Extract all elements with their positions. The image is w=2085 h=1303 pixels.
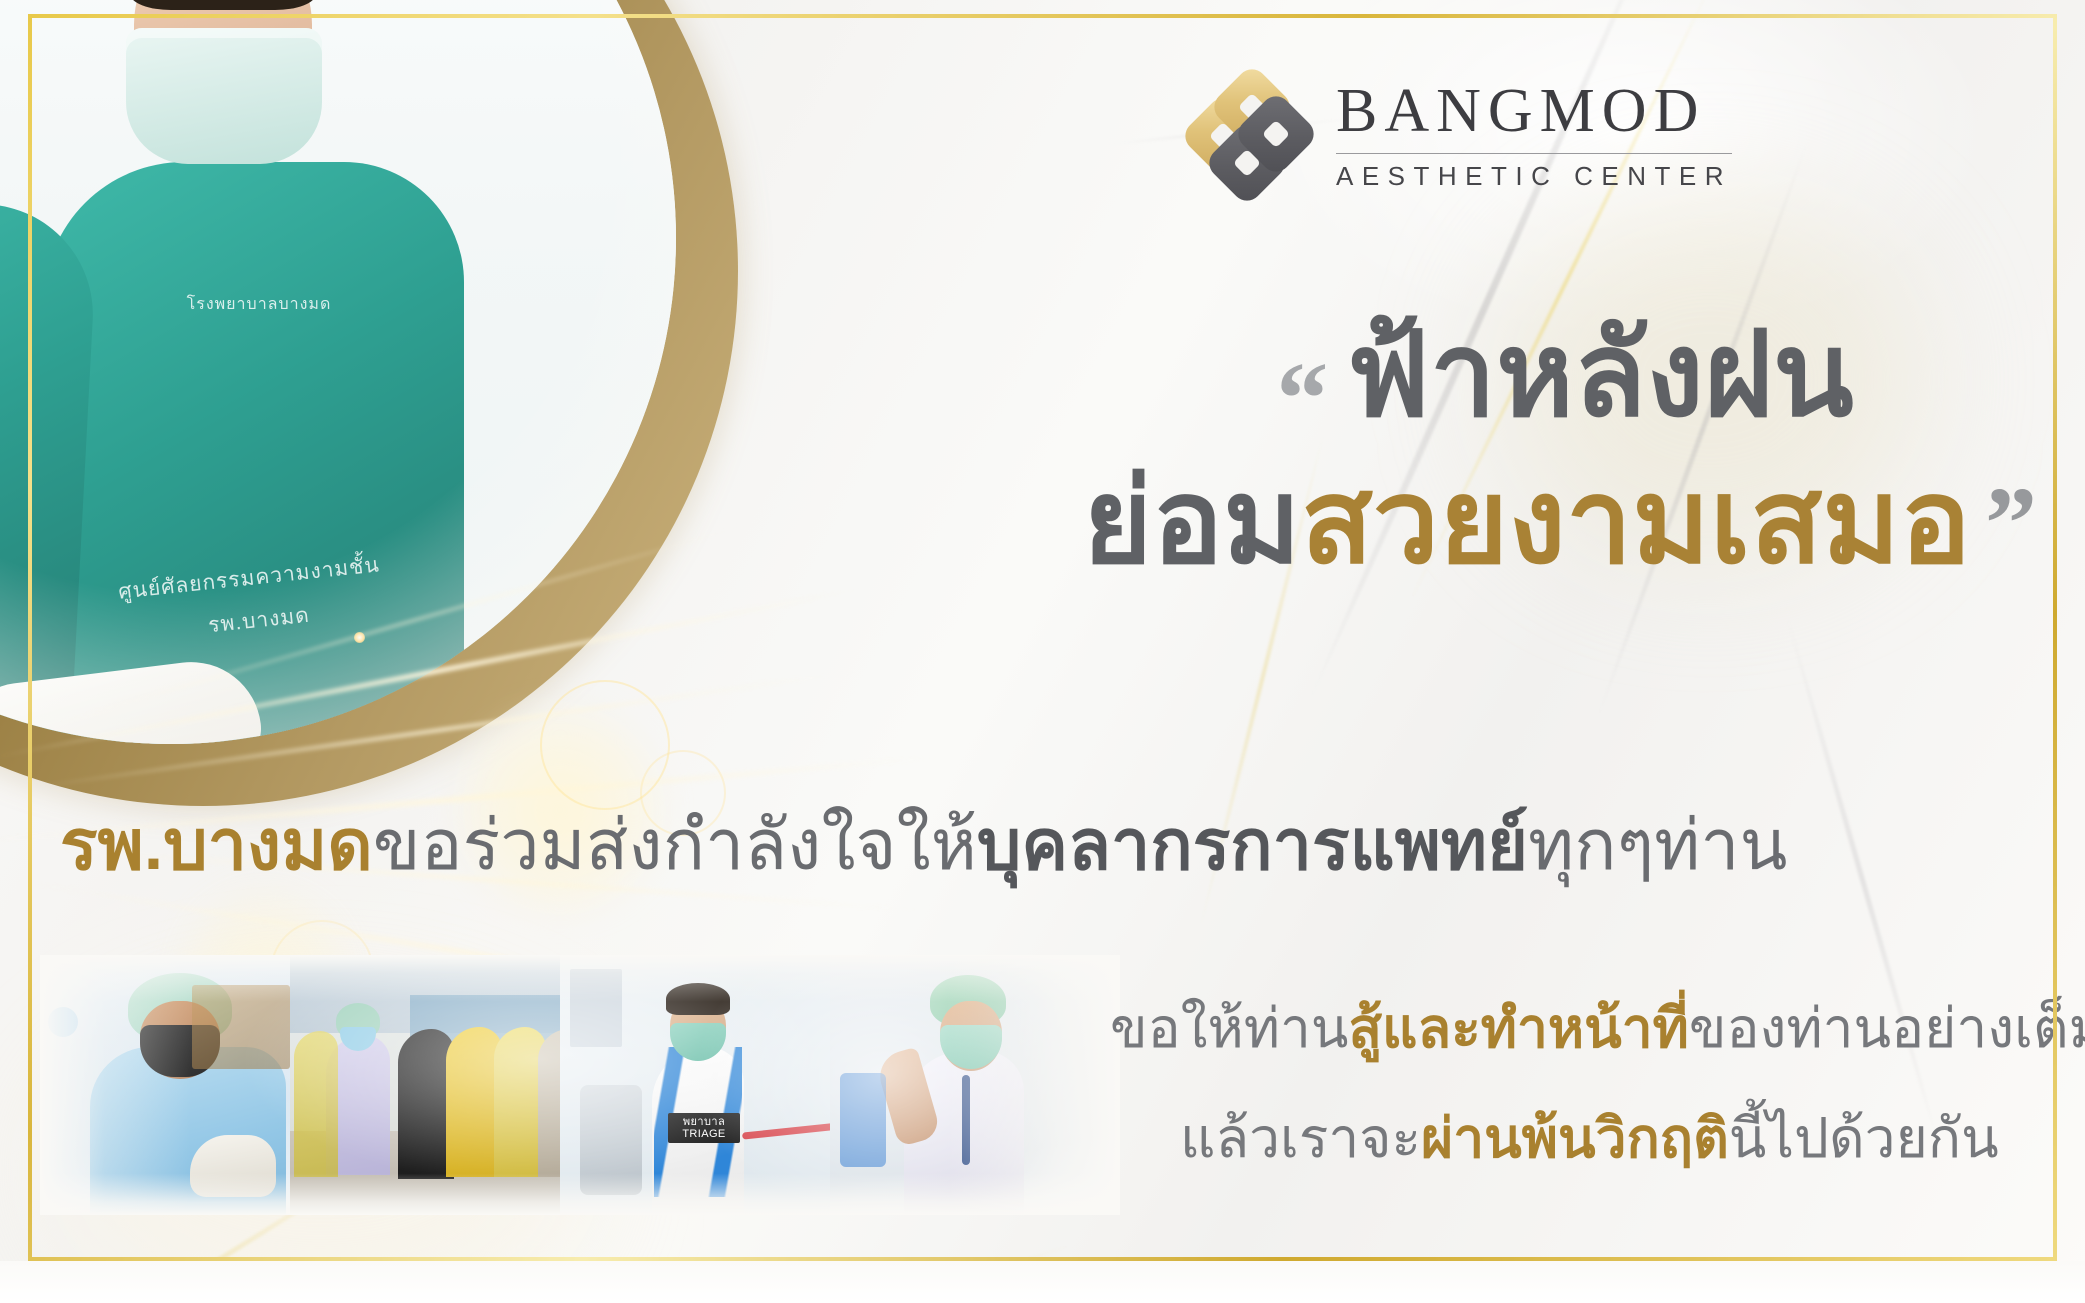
hospital-name-th: รพ.บางมด bbox=[60, 803, 373, 887]
collage-photo: พยาบาล TRIAGE bbox=[560, 955, 850, 1215]
bangmod-diamond-logo-icon bbox=[1188, 75, 1306, 193]
lanyard bbox=[962, 1075, 970, 1165]
staff-hair bbox=[666, 983, 730, 1015]
headline-line-2: ย่อม สวยงามเสมอ ” bbox=[1060, 447, 2060, 598]
open-quote-icon: “ bbox=[1276, 347, 1328, 451]
bottom-white-strip bbox=[0, 1261, 2085, 1303]
person-in-queue bbox=[294, 1031, 338, 1177]
close-quote-icon: ” bbox=[1985, 472, 2037, 576]
banner-root: โรงพยาบาลบางมด ศูนย์ศัลยกรรมความงามชั้น … bbox=[0, 0, 2085, 1303]
subline-2: แล้วเราจะ ผ่านพ้นวิกฤติ นี้ไปด้วยกัน bbox=[1180, 1105, 1999, 1171]
wall-poster bbox=[570, 969, 622, 1047]
support-text-b: ทุกๆท่าน bbox=[1528, 803, 1787, 887]
support-text-emphasis: บุคลากรการแพทย์ bbox=[977, 803, 1528, 887]
hero-photo-circle: โรงพยาบาลบางมด ศูนย์ศัลยกรรมความงามชั้น … bbox=[0, 0, 738, 806]
subline-1-prefix: ขอให้ท่าน bbox=[1110, 995, 1348, 1061]
operating-room-photo: โรงพยาบาลบางมด ศูนย์ศัลยกรรมความงามชั้น … bbox=[0, 0, 676, 744]
logo-wordmark: BANGMOD AESTHETIC CENTER bbox=[1336, 80, 1732, 189]
brand-logo[interactable]: BANGMOD AESTHETIC CENTER bbox=[1188, 74, 1888, 194]
logo-divider bbox=[1336, 153, 1732, 154]
subline-2-prefix: แล้วเราจะ bbox=[1180, 1105, 1421, 1171]
gloved-hands bbox=[190, 1135, 276, 1197]
waiting-chair bbox=[580, 1085, 642, 1195]
headline-block: “ ฟ้าหลังฝน ย่อม สวยงามเสมอ ” bbox=[1060, 300, 2060, 598]
headline-text-2b: สวยงามเสมอ bbox=[1301, 447, 1971, 598]
plastic-chair bbox=[840, 1073, 886, 1167]
sparkle-dot bbox=[424, 692, 432, 700]
headline-line-1: “ ฟ้าหลังฝน bbox=[1070, 300, 2060, 451]
headline-text-2a: ย่อม bbox=[1083, 447, 1301, 598]
collage-photo bbox=[290, 955, 590, 1215]
subline-1: ขอให้ท่าน สู้และทำหน้าที่ ของท่านอย่างเต… bbox=[1110, 995, 2085, 1061]
subline-2-highlight: ผ่านพ้นวิกฤติ bbox=[1421, 1105, 1729, 1171]
vest-label-th: พยาบาล bbox=[683, 1116, 725, 1128]
collage-photo bbox=[830, 955, 1120, 1215]
wall-sign-icon bbox=[48, 1007, 78, 1037]
logo-subtitle: AESTHETIC CENTER bbox=[1336, 163, 1732, 189]
triage-vest-label: พยาบาล TRIAGE bbox=[668, 1113, 740, 1143]
support-message-line: รพ.บางมด ขอร่วมส่งกำลังใจให้ บุคลากรการแ… bbox=[60, 790, 2050, 900]
support-text-a: ขอร่วมส่งกำลังใจให้ bbox=[373, 803, 977, 887]
photo-collage-strip: พยาบาล TRIAGE bbox=[40, 955, 1120, 1215]
subline-1-suffix: ของท่านอย่างเต็มที่... bbox=[1689, 995, 2085, 1061]
vest-label-en: TRIAGE bbox=[682, 1128, 725, 1140]
collage-photo bbox=[40, 955, 330, 1215]
subline-1-highlight: สู้และทำหน้าที่ bbox=[1348, 995, 1688, 1061]
logo-title: BANGMOD bbox=[1336, 80, 1705, 142]
framed-picture bbox=[192, 985, 290, 1069]
subline-2-suffix: นี้ไปด้วยกัน bbox=[1729, 1105, 1999, 1171]
headline-text-1: ฟ้าหลังฝน bbox=[1346, 300, 1853, 451]
